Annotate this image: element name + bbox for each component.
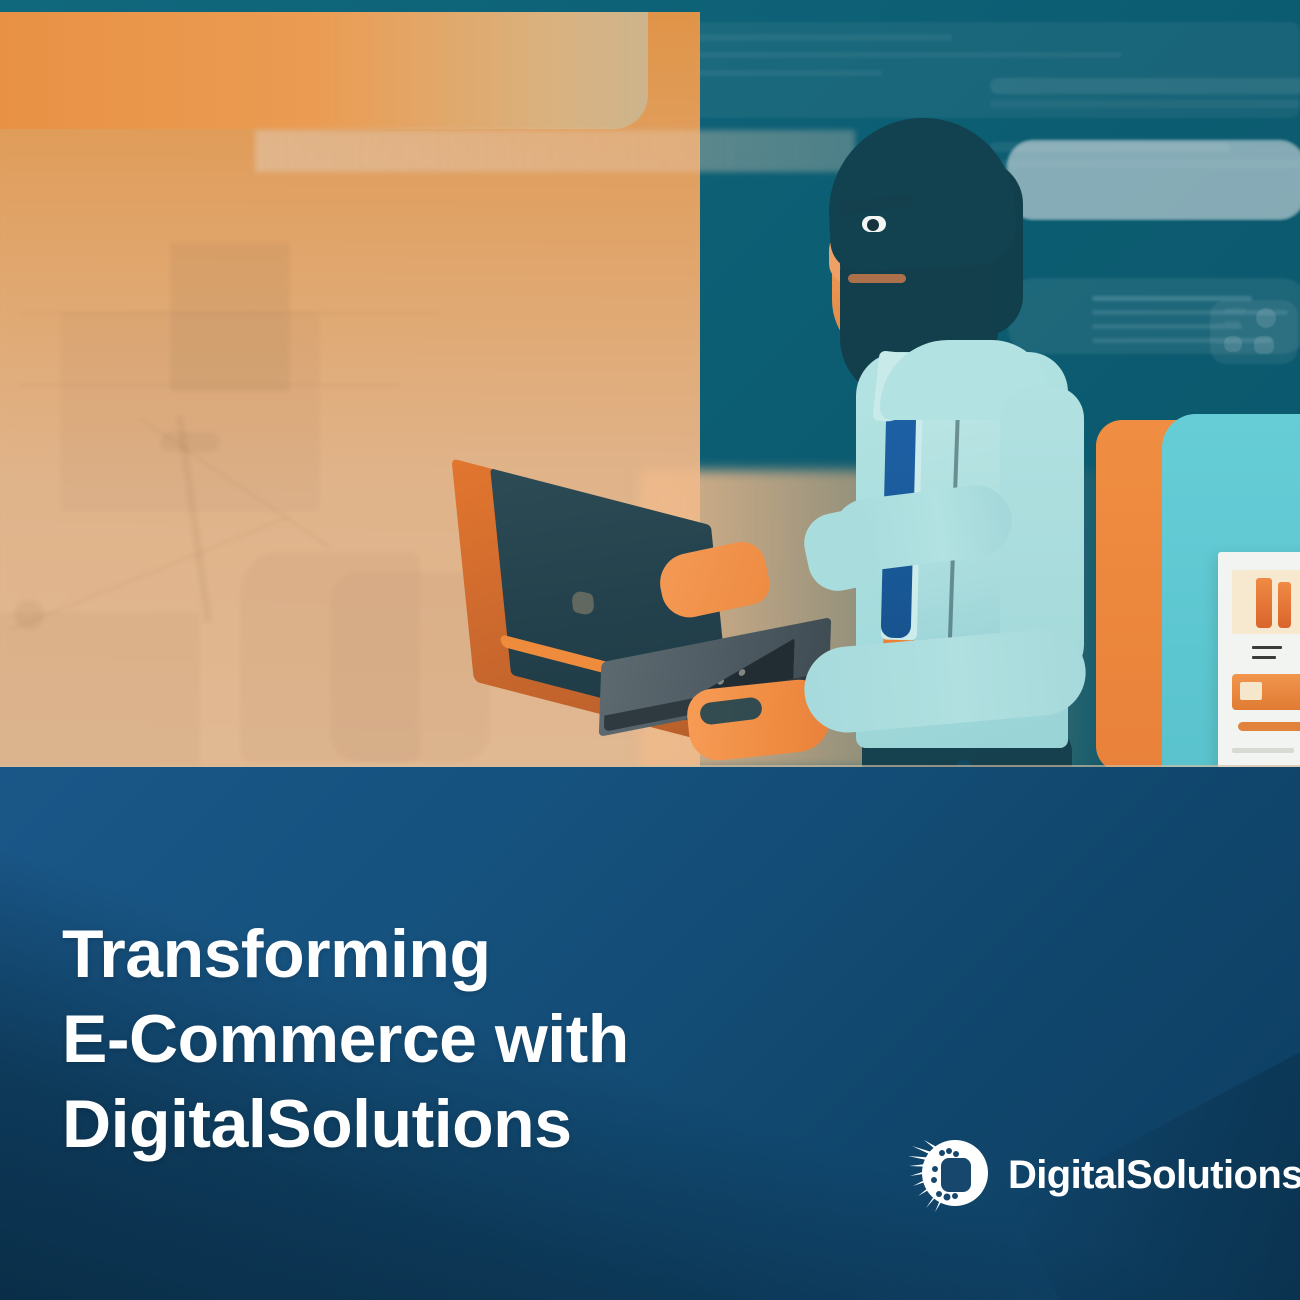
bg-bar: [652, 52, 1122, 58]
logo-notches-icon: [908, 1136, 986, 1214]
pupil: [867, 219, 879, 231]
bg-panel-list-large: [1006, 140, 1300, 220]
product-bottle-icon: [1256, 578, 1272, 628]
digitalsolutions-burst-badge-icon: [908, 1136, 986, 1214]
headline-line-1: Transforming: [62, 912, 822, 997]
widget-grid-icon[interactable]: [1224, 336, 1242, 352]
social-card-canvas: Transforming E-Commerce with DigitalSolu…: [0, 0, 1300, 1300]
brand-lockup: DigitalSolutions: [908, 1136, 1300, 1214]
headline-line-2: E-Commerce with: [62, 997, 822, 1082]
lip: [848, 274, 906, 283]
product-bottle-icon: [1278, 582, 1291, 628]
headline-line-3: DigitalSolutions: [62, 1082, 822, 1167]
headline: Transforming E-Commerce with DigitalSolu…: [62, 912, 822, 1167]
product-banner-chip: [1240, 682, 1262, 700]
product-divider: [1252, 646, 1282, 649]
wash-highlight-band: [255, 130, 855, 172]
widget-save-icon[interactable]: [1254, 336, 1274, 354]
product-text-line: [1232, 748, 1294, 753]
bg-panel-header-strip: [990, 100, 1300, 108]
widget-add-icon[interactable]: [1256, 308, 1276, 328]
product-divider: [1252, 656, 1276, 659]
product-underline-bar: [1238, 722, 1300, 731]
widget-label: [1224, 320, 1240, 325]
brand-name: DigitalSolutions: [1008, 1153, 1300, 1198]
orange-top-tab: [0, 12, 648, 129]
widget-label: [1224, 308, 1246, 313]
bg-panel-header-strip: [990, 78, 1300, 94]
